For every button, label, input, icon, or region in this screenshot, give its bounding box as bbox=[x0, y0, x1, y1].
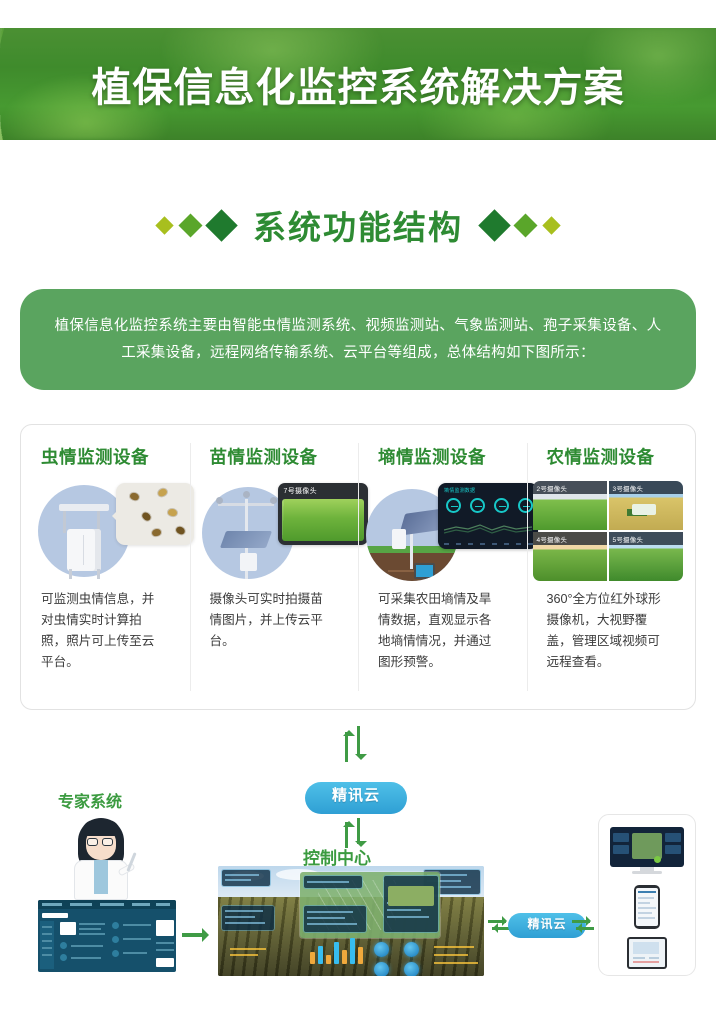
gauge-icon bbox=[494, 498, 509, 513]
page-title: 植保信息化监控系统解决方案 bbox=[92, 55, 625, 113]
gauge-icon bbox=[374, 962, 389, 976]
avatar bbox=[60, 942, 67, 949]
camera-label: 7号摄像头 bbox=[284, 486, 317, 496]
diamond-icon bbox=[155, 216, 173, 234]
section-title: 系统功能结构 bbox=[253, 201, 463, 249]
cloud-label: 精讯云 bbox=[508, 915, 586, 932]
card-title: 虫情监测设备 bbox=[41, 444, 190, 469]
equipment-card-farm[interactable]: 农情监测设备 2号摄像头 3号摄像头 4号摄像头 5号摄像头 360°全方位红外… bbox=[527, 425, 696, 709]
camera-label: 5号摄像头 bbox=[609, 532, 683, 545]
gauge-icon bbox=[374, 942, 389, 957]
insect-icon bbox=[151, 528, 161, 537]
gauge-icon bbox=[446, 498, 461, 513]
camera-feed-panel[interactable]: 7号摄像头 bbox=[278, 483, 368, 545]
trend-line-chart bbox=[444, 521, 532, 535]
sidebar-column bbox=[40, 921, 54, 969]
axis-ticks bbox=[444, 543, 538, 545]
map-title-bar bbox=[304, 876, 362, 888]
equipment-card-soil[interactable]: 墒情监测设备 墒情监测数据 bbox=[358, 425, 527, 709]
diamond-icon bbox=[478, 209, 511, 242]
detail-panel bbox=[156, 920, 174, 936]
intro-box: 植保信息化监控系统主要由智能虫情监测系统、视频监测站、气象监测站、孢子采集设备、… bbox=[20, 289, 696, 390]
system-architecture-diagram: 精讯云 控制中心 专家系统 bbox=[0, 712, 716, 1024]
device-roof bbox=[59, 504, 109, 511]
arrow-right-1 bbox=[182, 928, 214, 942]
crop-thumbnail bbox=[388, 886, 434, 906]
expert-figure bbox=[56, 808, 146, 894]
phone-device[interactable] bbox=[634, 885, 660, 929]
camera-cell[interactable]: 3号摄像头 bbox=[609, 481, 683, 530]
camera-grid[interactable]: 2号摄像头 3号摄像头 4号摄像头 5号摄像头 bbox=[533, 481, 683, 581]
avatar bbox=[112, 950, 119, 957]
insect-icon bbox=[157, 487, 168, 497]
avatar bbox=[112, 936, 119, 943]
card-description: 可采集农田墒情及旱情数据，直观显示各地墒情情况，并通过图形预警。 bbox=[378, 589, 503, 673]
map-legend-panel bbox=[304, 906, 366, 932]
insect-icon bbox=[141, 511, 152, 522]
diamond-icon bbox=[205, 209, 238, 242]
search-field[interactable] bbox=[42, 913, 68, 918]
inner-shirt bbox=[94, 860, 108, 894]
phone-screen bbox=[636, 888, 658, 926]
anemometer-icon bbox=[270, 497, 277, 504]
gauge-icon bbox=[470, 498, 485, 513]
card-media-farm: 2号摄像头 3号摄像头 4号摄像头 5号摄像头 bbox=[527, 477, 696, 585]
cloud-label: 精讯云 bbox=[305, 784, 407, 805]
card-media-insect bbox=[21, 477, 190, 585]
soil-dashboard-panel[interactable]: 墒情监测数据 bbox=[438, 483, 538, 549]
camera-label: 3号摄像头 bbox=[609, 481, 683, 494]
cloud-jingxun-right[interactable]: 精讯云 bbox=[508, 902, 586, 940]
expert-system-screen[interactable] bbox=[38, 900, 176, 972]
gauge-icon bbox=[404, 962, 419, 976]
card-title: 苗情监测设备 bbox=[210, 444, 359, 469]
card-description: 360°全方位红外球形摄像机，大视野覆盖，管理区域视频可远程查看。 bbox=[547, 589, 672, 673]
device-leg bbox=[97, 569, 100, 579]
control-box bbox=[392, 529, 406, 549]
monitor-base bbox=[632, 871, 662, 874]
submit-button[interactable] bbox=[156, 958, 174, 967]
card-description: 摄像头可实时拍摄苗情图片，并上传云平台。 bbox=[210, 589, 335, 652]
camera-cell[interactable]: 5号摄像头 bbox=[609, 532, 683, 581]
avatar bbox=[60, 954, 67, 961]
camera-label: 4号摄像头 bbox=[533, 532, 607, 545]
camera-cell[interactable]: 2号摄像头 bbox=[533, 481, 607, 530]
insect-trap-body bbox=[67, 529, 101, 571]
card-title: 农情监测设备 bbox=[547, 444, 696, 469]
crop-video-image bbox=[282, 499, 364, 541]
solar-panel-icon bbox=[219, 531, 271, 548]
card-description: 可监测虫情信息，并对虫情实时计算拍照，照片可上传至云平台。 bbox=[41, 589, 166, 673]
equipment-card-seedling[interactable]: 苗情监测设备 7号摄像头 摄像头可实时拍摄苗情图片，并上传云平台。 bbox=[190, 425, 359, 709]
control-center-screen[interactable] bbox=[218, 866, 484, 976]
glasses-icon bbox=[87, 838, 98, 846]
avatar bbox=[112, 922, 119, 929]
tablet-screen bbox=[629, 939, 665, 967]
intro-text: 植保信息化监控系统主要由智能虫情监测系统、视频监测站、气象监测站、孢子采集设备、… bbox=[53, 313, 663, 367]
insect-photo-bubble bbox=[116, 483, 194, 545]
cloud-jingxun-top[interactable]: 精讯云 bbox=[305, 768, 407, 814]
device-leg bbox=[69, 569, 72, 579]
dashboard-title: 墒情监测数据 bbox=[444, 487, 475, 494]
harvester-icon bbox=[632, 504, 656, 515]
arrow-up-down-top bbox=[341, 724, 367, 764]
camera-label: 2号摄像头 bbox=[533, 481, 607, 494]
section-title-row: 系统功能结构 bbox=[0, 190, 716, 260]
insect-icon bbox=[129, 492, 140, 501]
buried-cable bbox=[388, 570, 416, 572]
insect-icon bbox=[175, 525, 186, 535]
glasses-icon bbox=[102, 838, 113, 846]
hud-panel bbox=[222, 906, 274, 930]
gauge-icon bbox=[404, 942, 419, 957]
diamond-icon bbox=[178, 213, 202, 237]
equipment-card-list: 虫情监测设备 可监测虫情信息，并对虫情实时计算拍照，照片可上传至云平台。 苗情监… bbox=[21, 425, 695, 709]
equipment-panel: 虫情监测设备 可监测虫情信息，并对虫情实时计算拍照，照片可上传至云平台。 苗情监… bbox=[20, 424, 696, 710]
client-devices-card bbox=[598, 814, 696, 976]
soil-sensor-screen bbox=[414, 563, 435, 579]
sensor-icon bbox=[243, 491, 250, 498]
header-banner: 植保信息化监控系统解决方案 bbox=[0, 28, 716, 140]
diamond-icon bbox=[542, 216, 560, 234]
card-media-seedling: 7号摄像头 bbox=[190, 477, 359, 585]
thumbnail-image bbox=[60, 922, 76, 935]
screen-navbar bbox=[38, 900, 176, 909]
monitor-device[interactable] bbox=[610, 827, 684, 867]
insect-icon bbox=[167, 508, 177, 516]
tablet-device[interactable] bbox=[627, 937, 667, 969]
hud-panel bbox=[222, 870, 270, 886]
diamond-icon bbox=[513, 213, 537, 237]
anemometer-icon bbox=[216, 497, 223, 504]
card-title: 墒情监测设备 bbox=[378, 444, 527, 469]
control-box bbox=[240, 553, 257, 571]
equipment-card-insect[interactable]: 虫情监测设备 可监测虫情信息，并对虫情实时计算拍照，照片可上传至云平台。 bbox=[21, 425, 190, 709]
fringe-shape bbox=[82, 820, 120, 836]
device-pole bbox=[63, 509, 66, 533]
camera-cell[interactable]: 4号摄像头 bbox=[533, 532, 607, 581]
card-media-soil: 墒情监测数据 bbox=[358, 477, 527, 585]
status-dot bbox=[654, 856, 661, 863]
